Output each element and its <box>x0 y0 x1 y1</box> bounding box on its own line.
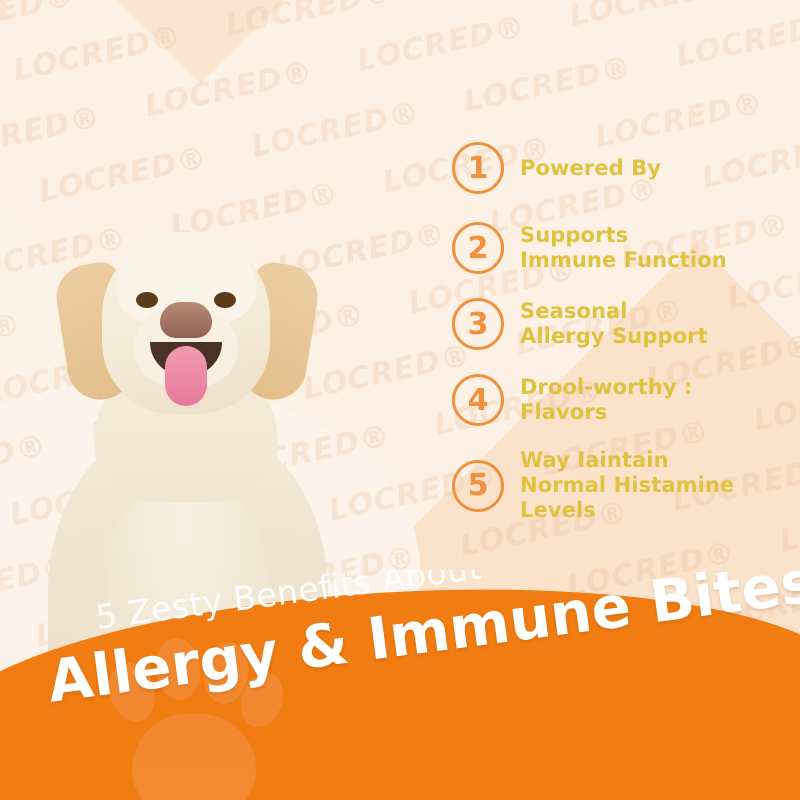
dog-nose <box>160 302 212 338</box>
benefit-label-1: Powered By <box>520 156 661 181</box>
banner-text-group: 5 Zesty Benefits About Allergy & Immune … <box>0 570 800 800</box>
benefit-label-2: Supports Immune Function <box>520 223 727 273</box>
promo-poster: LOCRED®LOCRED®LOCRED®LOCRED®LOCRED®LOCRE… <box>0 0 800 800</box>
dog-tongue <box>165 346 207 406</box>
benefit-number-3: 3 <box>452 298 504 350</box>
benefits-list: 1 Powered By 2 Supports Immune Function … <box>452 142 792 533</box>
benefit-number-5: 5 <box>452 460 504 512</box>
dog-eye-left <box>136 292 158 308</box>
benefit-label-3: Seasonal Allergy Support <box>520 299 708 349</box>
benefit-item-5: 5 Way Iaintain Normal Histamine Levels <box>452 448 792 523</box>
benefit-label-4: Drool-worthy : Flavors <box>520 375 693 425</box>
benefit-item-1: 1 Powered By <box>452 142 792 194</box>
dog-eye-right <box>214 292 236 308</box>
benefit-label-5: Way Iaintain Normal Histamine Levels <box>520 448 734 523</box>
benefit-item-2: 2 Supports Immune Function <box>452 222 792 274</box>
benefit-item-3: 3 Seasonal Allergy Support <box>452 298 792 350</box>
benefit-number-4: 4 <box>452 374 504 426</box>
benefit-item-4: 4 Drool-worthy : Flavors <box>452 374 792 426</box>
benefit-number-1: 1 <box>452 142 504 194</box>
bottom-banner: 5 Zesty Benefits About Allergy & Immune … <box>0 570 800 800</box>
benefit-number-2: 2 <box>452 222 504 274</box>
